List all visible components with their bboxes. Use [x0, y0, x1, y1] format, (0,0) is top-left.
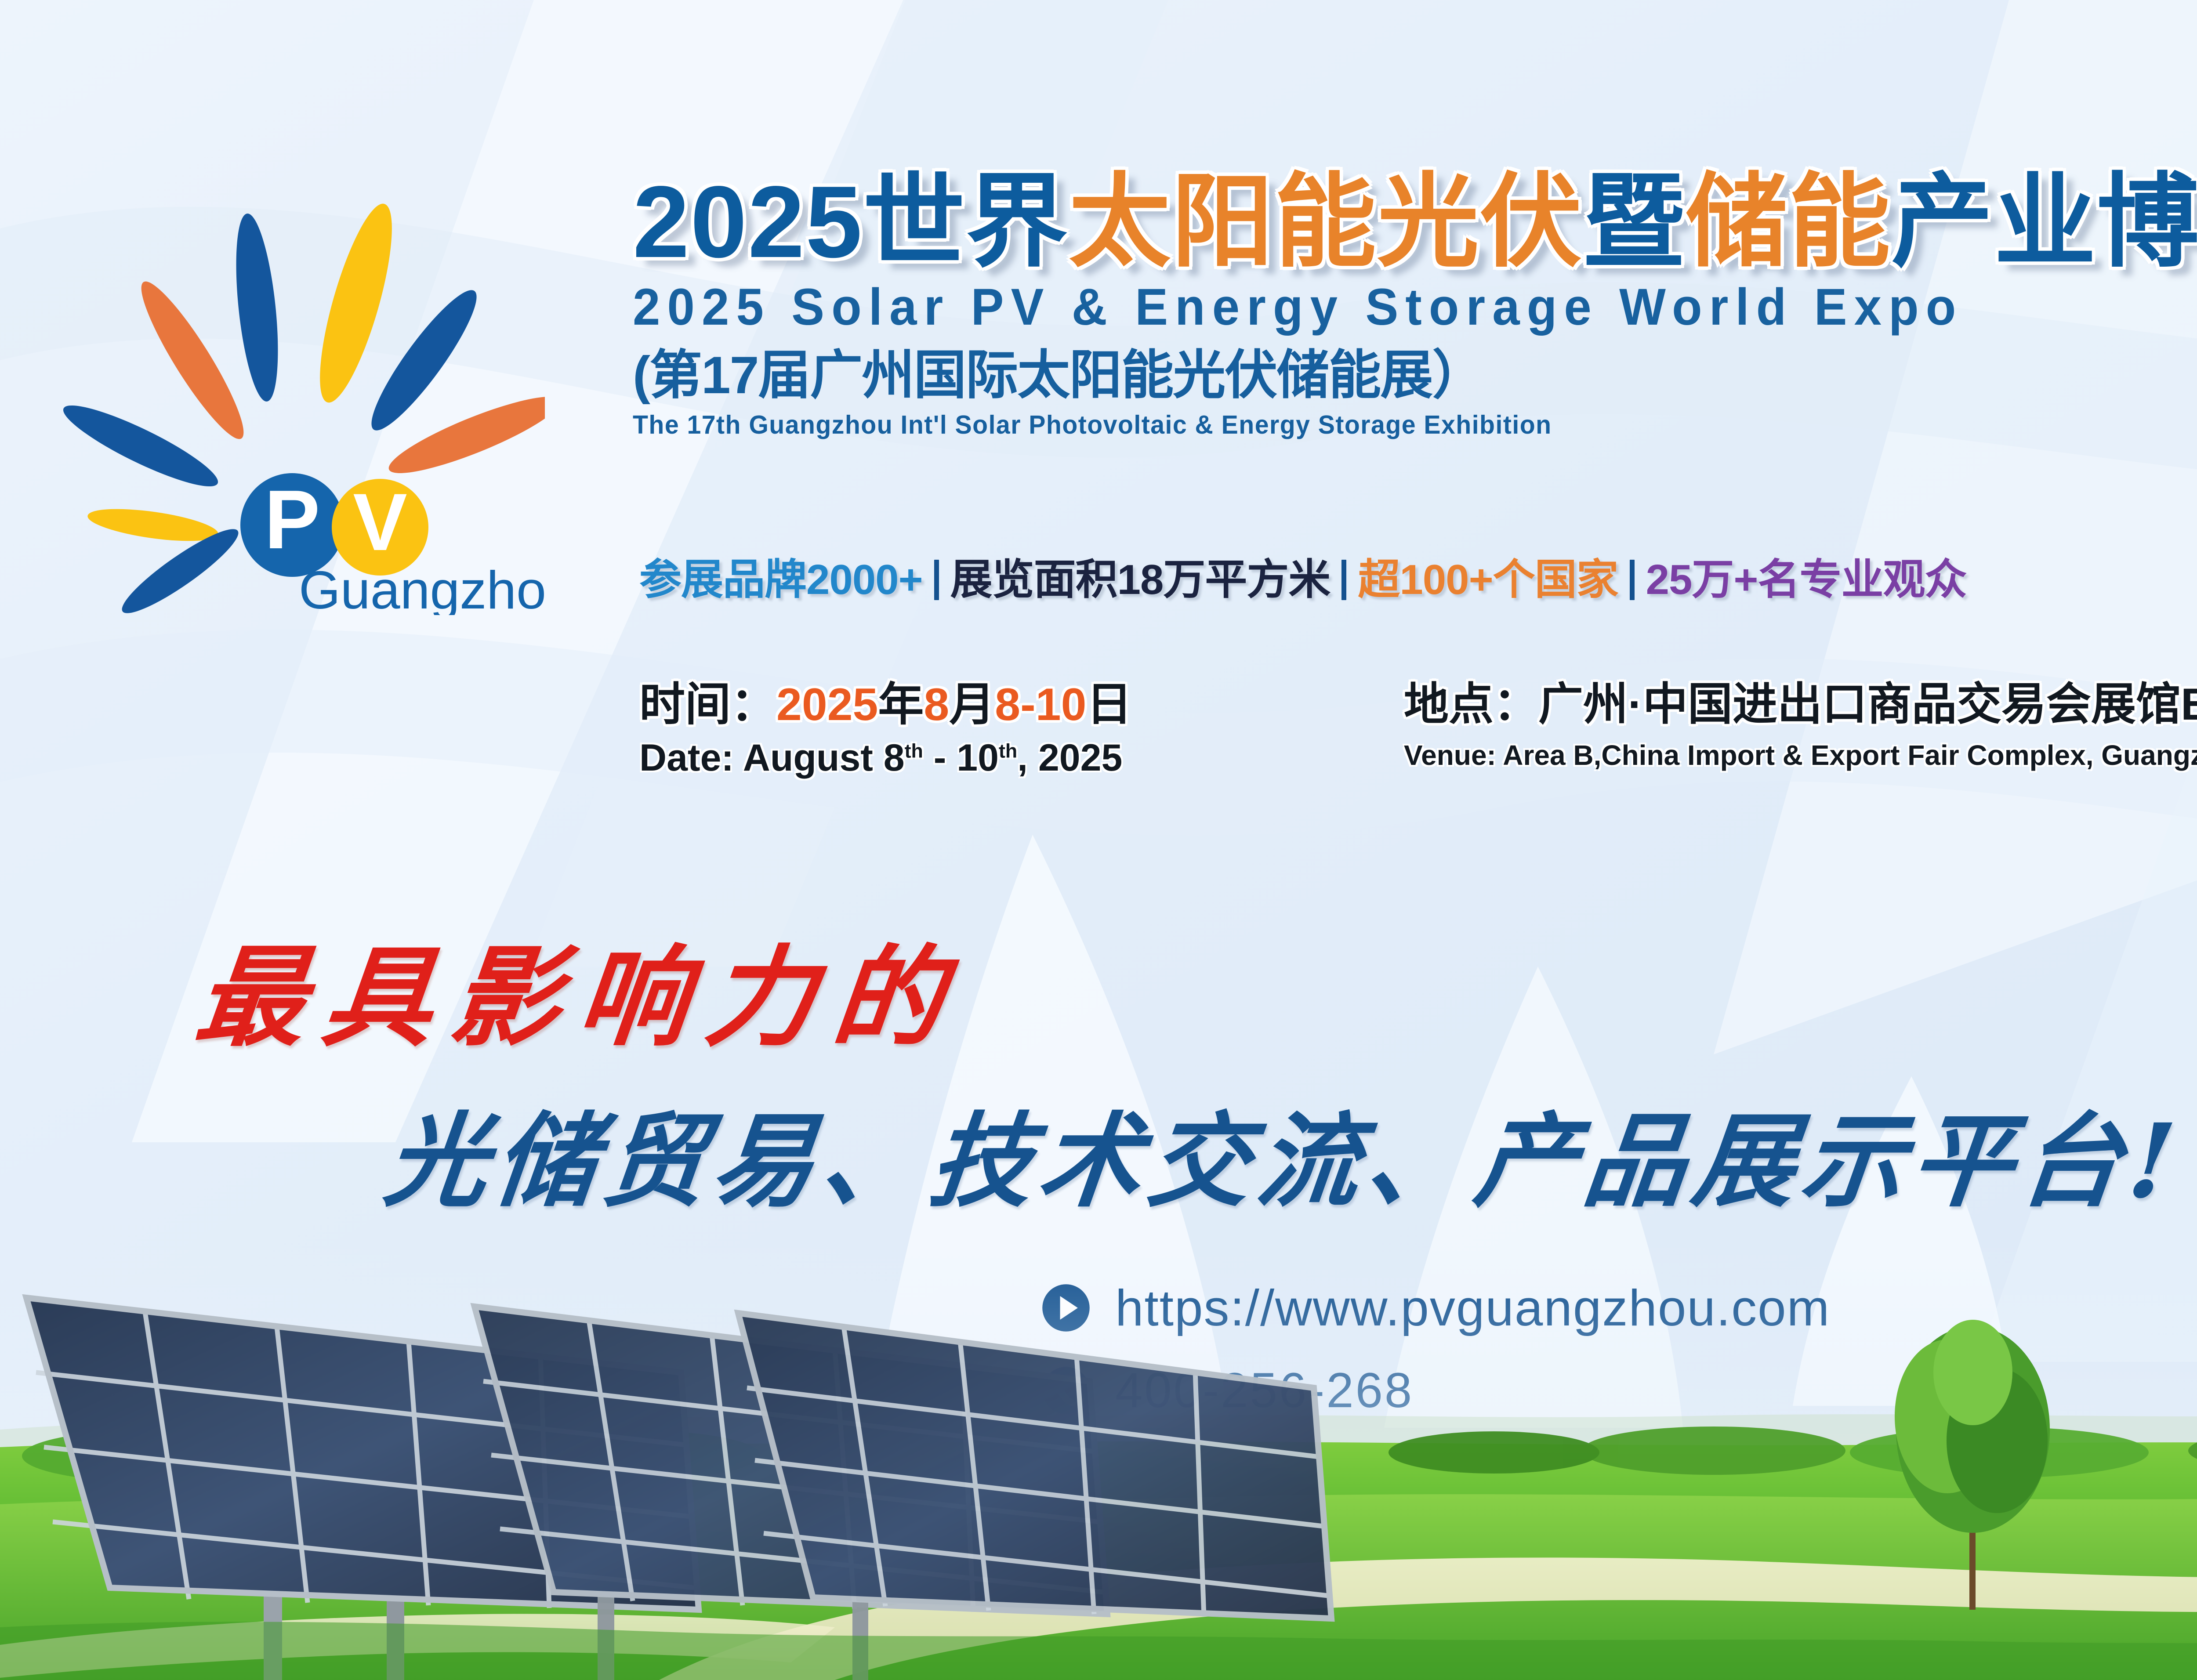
title-part-1: 太阳能光伏 — [1069, 165, 1583, 279]
title-part-4: 产业博览会 — [1891, 165, 2197, 279]
svg-text:P: P — [265, 473, 320, 566]
stat-item-1: 展览面积18万平方米 — [950, 559, 1331, 601]
title-chinese: 2025世界太阳能光伏暨储能产业博览会 — [633, 171, 2197, 273]
header-block: 2025世界太阳能光伏暨储能产业博览会 2025 Solar PV & Ener… — [633, 171, 2197, 438]
stat-divider — [934, 560, 939, 600]
date-year: 2025 — [776, 679, 878, 730]
title-part-3: 储能 — [1686, 165, 1891, 279]
solar-panel-2 — [475, 1307, 1107, 1680]
date-days: 8-10 — [995, 679, 1086, 730]
date-label-cn: 时间： — [639, 679, 776, 730]
venue-english: Venue: Area B,China Import & Export Fair… — [1404, 740, 2197, 771]
tree-1 — [1895, 1320, 2050, 1610]
phone-row[interactable]: 400-256-268 — [1041, 1362, 1830, 1419]
solar-panel-1 — [26, 1298, 699, 1680]
contact-block: https://www.pvguangzhou.com 400-256-268 — [1041, 1278, 1830, 1443]
phone-circle-icon — [1041, 1366, 1091, 1415]
stat-divider — [1630, 560, 1635, 600]
website-url[interactable]: https://www.pvguangzhou.com — [1115, 1278, 1830, 1337]
stat-divider — [1341, 560, 1346, 600]
subtitle-chinese: (第17届广州国际太阳能光伏储能展） — [633, 349, 2197, 402]
subtitle-english: The 17th Guangzhou Int'l Solar Photovolt… — [633, 412, 2197, 438]
logo-wordmark: Guangzhou — [299, 560, 545, 615]
poster-root: P V Guangzhou 2025世界太阳能光伏暨储能产业博览会 2025 S… — [0, 0, 2197, 1680]
website-row[interactable]: https://www.pvguangzhou.com — [1041, 1278, 1830, 1337]
slogan-line-1: 最具影响力的 — [189, 909, 971, 1067]
play-circle-icon — [1041, 1283, 1091, 1332]
date-month-unit: 月 — [949, 679, 995, 730]
title-part-2: 暨 — [1583, 165, 1686, 279]
date-year-unit: 年 — [878, 679, 924, 730]
date-english: Date: August 8th - 10th, 2025 — [639, 737, 1132, 779]
venue-block: 地点：广州·中国进出口商品交易会展馆B区 Venue: Area B,China… — [1404, 680, 2197, 771]
venue-chinese: 地点：广州·中国进出口商品交易会展馆B区 — [1404, 680, 2197, 728]
date-en-suffix: , 2025 — [1017, 737, 1122, 779]
stat-item-3: 25万+名专业观众 — [1646, 559, 1967, 601]
stat-item-0: 参展品牌2000+ — [639, 559, 923, 601]
date-en-mid: - 10 — [923, 737, 999, 779]
date-chinese: 时间：2025年8月8-10日 — [639, 680, 1132, 729]
date-en-prefix: Date: August 8 — [639, 737, 905, 779]
svg-text:V: V — [353, 477, 407, 568]
stats-bar: 参展品牌2000+ 展览面积18万平方米 超100+个国家 25万+名专业观众 — [639, 559, 1966, 601]
pv-guangzhou-logo: P V Guangzhou — [53, 176, 545, 615]
date-month: 8 — [924, 679, 949, 730]
date-en-sup1: th — [905, 741, 923, 762]
date-en-sup2: th — [999, 741, 1017, 762]
slogan-line-2: 光储贸易、技术交流、产品展示平台! — [379, 1079, 2190, 1226]
title-part-0: 2025世界 — [633, 165, 1069, 279]
date-day-unit: 日 — [1086, 679, 1132, 730]
phone-number[interactable]: 400-256-268 — [1115, 1362, 1414, 1419]
date-block: 时间：2025年8月8-10日 Date: August 8th - 10th,… — [639, 680, 1132, 779]
stat-item-2: 超100+个国家 — [1358, 559, 1618, 601]
title-english: 2025 Solar PV & Energy Storage World Exp… — [633, 281, 2197, 333]
